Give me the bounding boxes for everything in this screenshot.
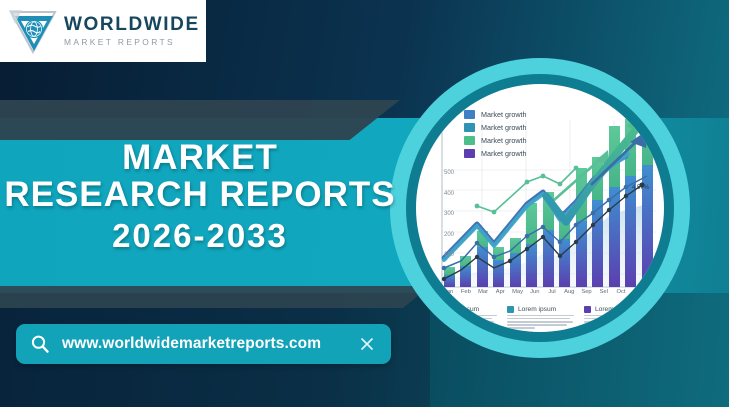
x-tick-label: Sep [578, 289, 595, 295]
legend-item[interactable]: Market growth [464, 123, 527, 132]
footer-title: Lorem ipsum [595, 306, 633, 313]
x-tick-label: Mar [474, 289, 491, 295]
chart-footer: Lorem ipsum Lorem ipsum [430, 306, 654, 330]
chart-badge: Market growth Market growth Market growt… [390, 58, 690, 358]
legend-item[interactable]: Market growth [464, 149, 527, 158]
footer-title: Lorem ipsum [441, 306, 479, 313]
x-tick-label: Oct [612, 289, 629, 295]
chart-footer-item: Lorem ipsum [507, 306, 577, 330]
legend-swatch-icon [464, 149, 475, 158]
legend-label: Market growth [481, 123, 527, 132]
website-search-bar[interactable]: www.worldwidemarketreports.com [16, 324, 391, 364]
chart-footer-item: Lorem ipsum [584, 306, 654, 330]
x-tick-label: Sel [595, 289, 612, 295]
y-tick-label: 500 [432, 170, 454, 191]
brand-subtitle: MARKET REPORTS [64, 38, 200, 46]
x-tick-label: Nov [630, 289, 647, 295]
legend-swatch-icon [464, 110, 475, 119]
legend-label: Market growth [481, 136, 527, 145]
x-tick-label: Apr [492, 289, 509, 295]
chart-canvas: Market growth Market growth Market growt… [416, 84, 664, 332]
decorative-slant-shape [0, 100, 400, 140]
footer-placeholder-lines [430, 315, 500, 326]
y-tick-label: 300 [432, 211, 454, 232]
headline-line-3: 2026-2033 [0, 214, 400, 259]
x-tick-label: Dec [647, 289, 664, 295]
brand-logo[interactable]: WORLDWIDE MARKET REPORTS [0, 0, 206, 62]
close-icon[interactable] [359, 336, 375, 352]
globe-triangle-logo-icon [6, 6, 60, 56]
footer-swatch-icon [430, 306, 437, 313]
legend-label: Market growth [481, 110, 527, 119]
headline-block: MARKET RESEARCH REPORTS 2026-2033 [0, 140, 400, 258]
footer-swatch-icon [584, 306, 591, 313]
brand-title: WORLDWIDE [64, 15, 200, 34]
y-tick-label: 100 [432, 252, 454, 273]
x-tick-label: May [509, 289, 526, 295]
footer-placeholder-lines [507, 315, 577, 329]
y-tick-label: 200 [432, 232, 454, 253]
x-tick-label: Jan [440, 289, 457, 295]
headline-line-1: MARKET [0, 140, 400, 177]
chart-y-axis: 500 400 300 200 100 [432, 170, 454, 273]
chart-legend: Market growth Market growth Market growt… [464, 110, 527, 162]
market-research-banner: WORLDWIDE MARKET REPORTS MARKET RESEARCH… [0, 0, 729, 407]
chart-footer-item: Lorem ipsum [430, 306, 500, 330]
legend-label: Market growth [481, 149, 527, 158]
legend-swatch-icon [464, 136, 475, 145]
x-tick-label: Jul [543, 289, 560, 295]
chart-x-axis: Jan Feb Mar Apr May Jun Jul Aug Sep Sel … [440, 289, 664, 295]
search-icon[interactable] [30, 334, 50, 354]
footer-swatch-icon [507, 306, 514, 313]
footer-placeholder-lines [584, 315, 654, 326]
footer-title: Lorem ipsum [518, 306, 556, 313]
search-input[interactable]: www.worldwidemarketreports.com [62, 335, 359, 353]
y-tick-label: 400 [432, 191, 454, 212]
chart-annotation-percent: 4.57% [632, 185, 649, 191]
legend-swatch-icon [464, 123, 475, 132]
x-tick-label: Feb [457, 289, 474, 295]
decorative-slant-shape-bottom [0, 286, 430, 308]
legend-item[interactable]: Market growth [464, 110, 527, 119]
x-tick-label: Aug [561, 289, 578, 295]
legend-item[interactable]: Market growth [464, 136, 527, 145]
headline-line-2: RESEARCH REPORTS [0, 177, 400, 214]
x-tick-label: Jun [526, 289, 543, 295]
